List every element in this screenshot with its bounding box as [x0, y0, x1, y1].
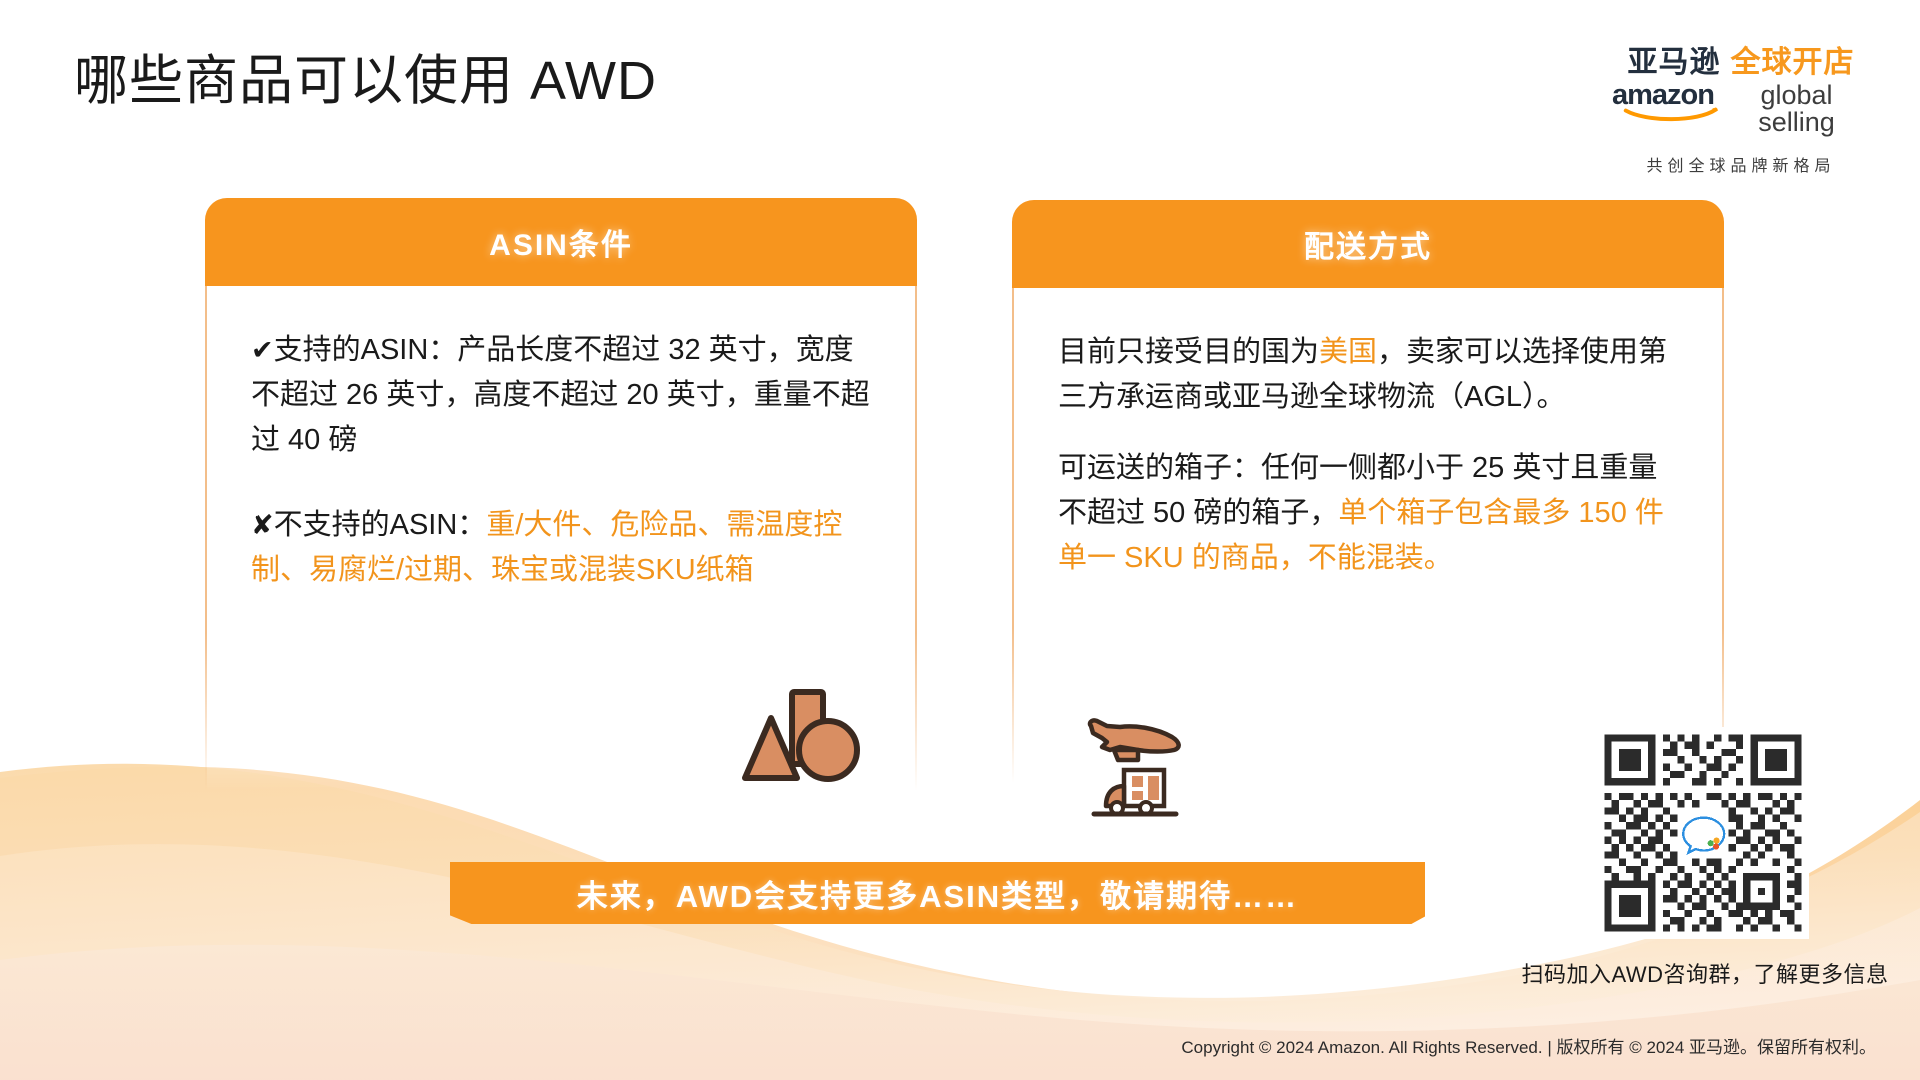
box-requirements-paragraph: 可运送的箱子：任何一侧都小于 25 英寸且重量不超过 50 磅的箱子，单个箱子包…: [1058, 446, 1678, 581]
airplane-icon: [1090, 720, 1179, 760]
slide-root: 哪些商品可以使用 AWD 亚马逊 全球开店 amazon global sell…: [0, 0, 1920, 1080]
supported-asin-text: 支持的ASIN：产品长度不超过 32 英寸，宽度不超过 26 英寸，高度不超过 …: [251, 334, 870, 456]
amazon-global-selling-logo: 亚马逊 全球开店 amazon global selling 共创全球品牌新格局: [1612, 48, 1870, 176]
logo-amazon-wordmark: amazon: [1612, 81, 1714, 110]
wechat-qr-code[interactable]: [1597, 727, 1809, 939]
destination-text-part1: 目前只接受目的国为: [1058, 336, 1319, 368]
supported-asin-paragraph: ✔支持的ASIN：产品长度不超过 32 英寸，宽度不超过 26 英寸，高度不超过…: [251, 328, 871, 463]
check-icon: ✔: [251, 335, 274, 365]
logo-global-selling-cn: 全球开店: [1731, 48, 1855, 78]
card-header-shipping: 配送方式: [1012, 200, 1724, 288]
logo-tagline: 共创全球品牌新格局: [1612, 152, 1870, 176]
shapes-icon: [742, 688, 862, 784]
logo-amazon-cn: 亚马逊: [1628, 48, 1721, 78]
qr-caption: 扫码加入AWD咨询群，了解更多信息: [1510, 957, 1900, 989]
unsupported-asin-label: 不支持的ASIN：: [274, 509, 487, 541]
cross-icon: ✘: [251, 510, 274, 540]
airplane-truck-icon: [1080, 712, 1206, 818]
future-support-banner: 未来，AWD会支持更多ASIN类型，敬请期待……: [450, 862, 1425, 924]
card-header-asin: ASIN条件: [205, 198, 917, 286]
destination-country-highlight: 美国: [1319, 336, 1377, 368]
logo-english-row: amazon global selling: [1612, 81, 1870, 136]
logo-chinese-row: 亚马逊 全球开店: [1612, 48, 1870, 78]
unsupported-asin-paragraph: ✘不支持的ASIN：重/大件、危险品、需温度控制、易腐烂/过期、珠宝或混装SKU…: [251, 503, 871, 593]
page-title: 哪些商品可以使用 AWD: [74, 50, 657, 112]
future-support-banner-text: 未来，AWD会支持更多ASIN类型，敬请期待……: [577, 871, 1298, 916]
destination-country-paragraph: 目前只接受目的国为美国，卖家可以选择使用第三方承运商或亚马逊全球物流（AGL）。: [1058, 330, 1678, 420]
card-header-label: 配送方式: [1304, 222, 1432, 266]
amazon-smile-icon: [1618, 107, 1726, 123]
card-header-label: ASIN条件: [489, 220, 633, 264]
delivery-truck-icon: [1094, 770, 1176, 814]
logo-global-selling-wordmark: global selling: [1723, 82, 1870, 136]
copyright-footer: Copyright © 2024 Amazon. All Rights Rese…: [1181, 1033, 1876, 1058]
card-shipping-method: 配送方式 目前只接受目的国为美国，卖家可以选择使用第三方承运商或亚马逊全球物流（…: [1012, 200, 1724, 788]
